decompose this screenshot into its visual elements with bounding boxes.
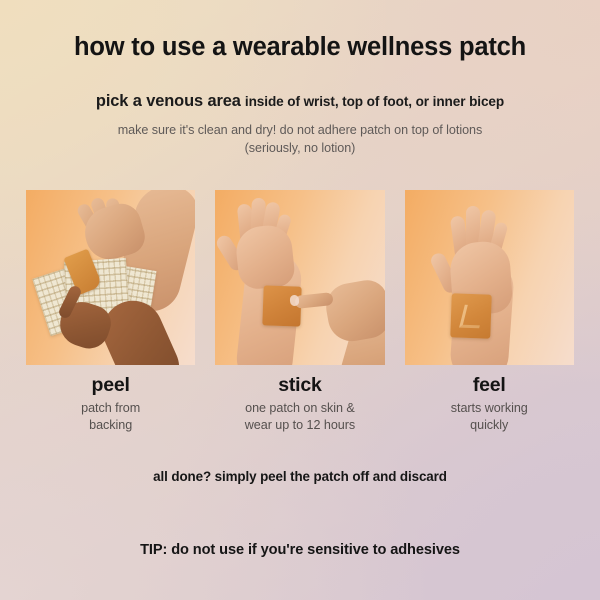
patch-worn bbox=[450, 293, 492, 338]
palm bbox=[234, 223, 296, 291]
step-caption-row: peel patch from backing stick one patch … bbox=[26, 374, 574, 434]
lede-strong: pick a venous area bbox=[96, 92, 241, 110]
step-caption-stick: stick one patch on skin & wear up to 12 … bbox=[215, 374, 384, 434]
infographic-poster: how to use a wearable wellness patch pic… bbox=[0, 0, 600, 600]
step-caption-feel: feel starts working quickly bbox=[405, 374, 574, 434]
step-body-line-2: wear up to 12 hours bbox=[215, 417, 384, 434]
step-body: patch from backing bbox=[26, 400, 195, 434]
lede-line: pick a venous area inside of wrist, top … bbox=[0, 92, 600, 111]
step-title: feel bbox=[405, 374, 574, 397]
closing-instruction: all done? simply peel the patch off and … bbox=[0, 469, 600, 484]
step-body-line-1: patch from bbox=[26, 400, 195, 417]
step-photo-stick bbox=[215, 190, 384, 365]
subnote-line-2: (seriously, no lotion) bbox=[0, 140, 600, 158]
step-caption-peel: peel patch from backing bbox=[26, 374, 195, 434]
subnote-line-1: make sure it's clean and dry! do not adh… bbox=[0, 122, 600, 140]
subnote: make sure it's clean and dry! do not adh… bbox=[0, 122, 600, 157]
step-body-line-2: backing bbox=[26, 417, 195, 434]
fingernail bbox=[289, 295, 299, 307]
step-body-line-2: quickly bbox=[405, 417, 574, 434]
page-title: how to use a wearable wellness patch bbox=[0, 33, 600, 62]
hand-applying bbox=[322, 277, 385, 345]
step-body-line-1: starts working bbox=[405, 400, 574, 417]
step-body: one patch on skin & wear up to 12 hours bbox=[215, 400, 384, 434]
lede-rest: inside of wrist, top of foot, or inner b… bbox=[245, 94, 504, 109]
step-photo-feel bbox=[405, 190, 574, 365]
step-body: starts working quickly bbox=[405, 400, 574, 434]
step-photo-row bbox=[26, 190, 574, 365]
step-title: stick bbox=[215, 374, 384, 397]
step-photo-peel bbox=[26, 190, 195, 365]
tip-line: TIP: do not use if you're sensitive to a… bbox=[0, 542, 600, 558]
step-title: peel bbox=[26, 374, 195, 397]
step-body-line-1: one patch on skin & bbox=[215, 400, 384, 417]
